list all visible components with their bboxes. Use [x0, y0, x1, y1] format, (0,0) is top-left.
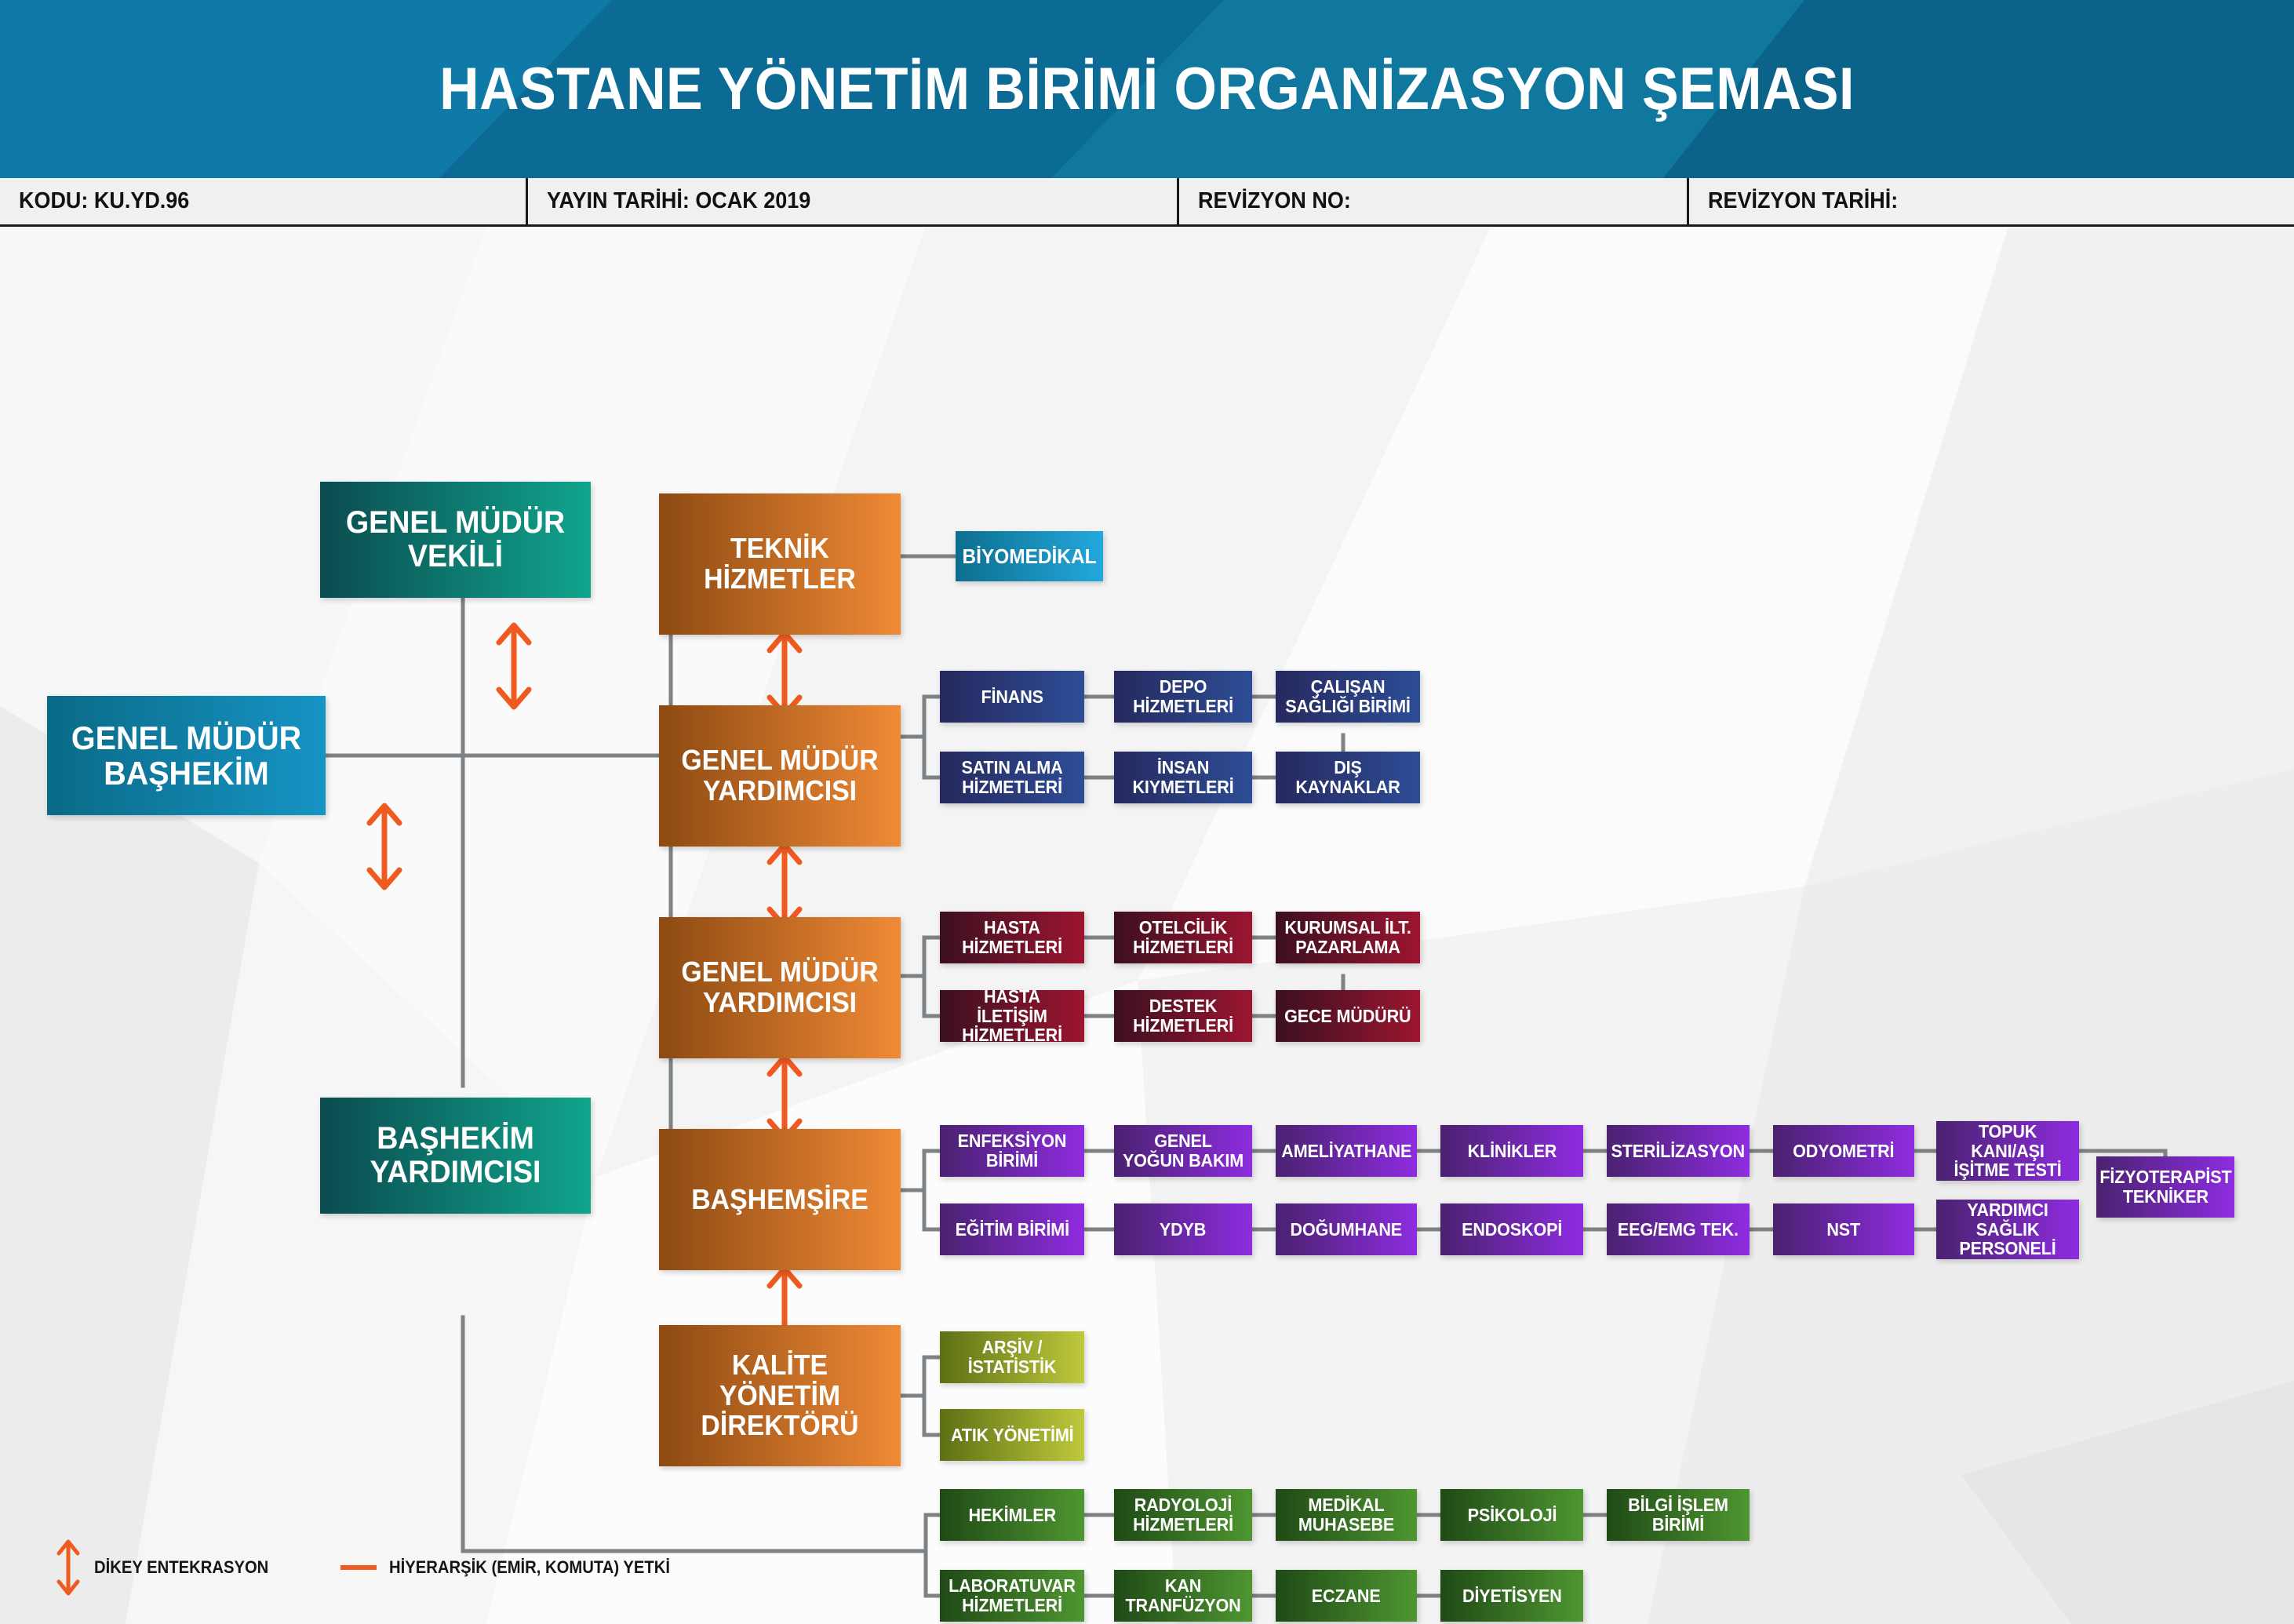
node-bashemsire[interactable]: BAŞHEMŞİRE: [659, 1129, 901, 1270]
node-teknik-hizmetler-label: TEKNİK HİZMETLER: [671, 533, 889, 595]
node-hasta-hizmetleri-label: HASTA HİZMETLERİ: [949, 918, 1076, 957]
node-insan-kiymetleri[interactable]: İNSAN KIYMETLERİ: [1114, 752, 1252, 803]
node-biyomedikal-label: BİYOMEDİKAL: [962, 545, 1096, 567]
node-klinikler-label: KLİNİKLER: [1467, 1142, 1557, 1161]
node-dogumhane-label: DOĞUMHANE: [1291, 1220, 1402, 1240]
node-genel-mudur-vekili-label: GENEL MÜDÜR VEKİLİ: [333, 506, 578, 573]
node-medikal-muhasebe-label: MEDİKAL MUHASEBE: [1284, 1495, 1408, 1535]
node-kan-transfuzyon[interactable]: KAN TRANFÜZYON: [1114, 1570, 1252, 1622]
org-chart-canvas: GENEL MÜDÜR BAŞHEKİM GENEL MÜDÜR VEKİLİ …: [0, 227, 2294, 1624]
node-nst-label: NST: [1827, 1220, 1861, 1240]
node-eeg-emg-tek-label: EEG/EMG TEK.: [1618, 1220, 1739, 1240]
node-bilgi-islem-birimi[interactable]: BİLGİ İŞLEM BİRİMİ: [1607, 1489, 1750, 1541]
node-satin-alma-hizmetleri[interactable]: SATIN ALMA HİZMETLERİ: [940, 752, 1084, 803]
node-gece-muduru[interactable]: GECE MÜDÜRÜ: [1276, 990, 1420, 1042]
node-calisan-sagligi-birimi-label: ÇALIŞAN SAĞLIĞI BİRİMİ: [1284, 677, 1411, 716]
node-hekimler-label: HEKİMLER: [968, 1506, 1055, 1525]
node-topuk-kani-asi-isitme-testi-label: TOPUK KANI/AŞI İŞİTME TESTİ: [1945, 1122, 2070, 1180]
node-enfeksiyon-birimi[interactable]: ENFEKSİYON BİRİMİ: [940, 1125, 1084, 1177]
node-dis-kaynaklar-label: DIŞ KAYNAKLAR: [1284, 758, 1411, 797]
node-genel-mudur-yardimcisi-2[interactable]: GENEL MÜDÜR YARDIMCISI: [659, 917, 901, 1058]
node-gece-muduru-label: GECE MÜDÜRÜ: [1284, 1007, 1411, 1026]
meta-yayin-tarihi-cell: YAYIN TARİHİ: OCAK 2019: [526, 178, 1177, 224]
node-ameliyathane[interactable]: AMELİYATHANE: [1276, 1125, 1417, 1177]
legend-item-vertical-integration: DİKEY ENTEKRASYON: [55, 1538, 284, 1597]
node-fizyoterapist-tekniker-label: FİZYOTERAPİST TEKNİKER: [2099, 1167, 2231, 1207]
node-kurumsal-ilt-pazarlama[interactable]: KURUMSAL İLT. PAZARLAMA: [1276, 912, 1420, 963]
meta-revizyon-no-cell: REVİZYON NO:: [1177, 178, 1687, 224]
meta-kodu-label: KODU: KU.YD.96: [19, 188, 189, 214]
node-kalite-yonetim-direktoru[interactable]: KALİTE YÖNETİM DİREKTÖRÜ: [659, 1325, 901, 1466]
node-destek-hizmetleri-label: DESTEK HİZMETLERİ: [1123, 996, 1243, 1036]
node-endoskopi-label: ENDOSKOPİ: [1462, 1220, 1562, 1240]
node-dogumhane[interactable]: DOĞUMHANE: [1276, 1203, 1417, 1255]
node-fizyoterapist-tekniker[interactable]: FİZYOTERAPİST TEKNİKER: [2096, 1156, 2234, 1218]
node-topuk-kani-asi-isitme-testi[interactable]: TOPUK KANI/AŞI İŞİTME TESTİ: [1936, 1121, 2079, 1181]
node-dis-kaynaklar[interactable]: DIŞ KAYNAKLAR: [1276, 752, 1420, 803]
node-nst[interactable]: NST: [1773, 1203, 1914, 1255]
node-ydyb-label: YDYB: [1160, 1220, 1206, 1240]
node-yardimci-saglik-personeli-label: YARDIMCI SAĞLIK PERSONELİ: [1945, 1200, 2070, 1258]
node-bashekim-yardimcisi[interactable]: BAŞHEKİM YARDIMCISI: [320, 1098, 591, 1214]
node-sterilizasyon-label: STERİLİZASYON: [1611, 1142, 1746, 1161]
node-hekimler[interactable]: HEKİMLER: [940, 1489, 1084, 1541]
meta-revizyon-tarihi-cell: REVİZYON TARİHİ:: [1687, 178, 2294, 224]
node-calisan-sagligi-birimi[interactable]: ÇALIŞAN SAĞLIĞI BİRİMİ: [1276, 671, 1420, 723]
node-genel-yogun-bakim-label: GENEL YOĞUN BAKIM: [1123, 1131, 1243, 1171]
node-arsiv-istatistik-label: ARŞİV / İSTATİSTİK: [949, 1338, 1076, 1377]
node-radyoloji-hizmetleri-label: RADYOLOJİ HİZMETLERİ: [1123, 1495, 1243, 1535]
meta-yayin-tarihi-label: YAYIN TARİHİ: OCAK 2019: [547, 188, 810, 214]
node-medikal-muhasebe[interactable]: MEDİKAL MUHASEBE: [1276, 1489, 1417, 1541]
meta-revizyon-tarihi-label: REVİZYON TARİHİ:: [1708, 188, 1898, 214]
node-laboratuvar-hizmetleri-label: LABORATUVAR HİZMETLERİ: [949, 1576, 1076, 1615]
node-ydyb[interactable]: YDYB: [1114, 1203, 1252, 1255]
vertical-double-arrow-icon: [55, 1538, 82, 1597]
node-otelcilik-hizmetleri-label: OTELCİLİK HİZMETLERİ: [1123, 918, 1243, 957]
horizontal-line-icon: [340, 1565, 377, 1570]
node-egitim-birimi-label: EĞİTİM BİRİMİ: [955, 1220, 1069, 1240]
node-insan-kiymetleri-label: İNSAN KIYMETLERİ: [1123, 758, 1243, 797]
legend-hierarchy-label: HİYERARŞİK (EMİR, KOMUTA) YETKİ: [389, 1557, 670, 1578]
node-genel-mudur-yardimcisi-1-label: GENEL MÜDÜR YARDIMCISI: [671, 745, 889, 807]
node-diyetisyen[interactable]: DİYETİSYEN: [1440, 1570, 1583, 1622]
node-laboratuvar-hizmetleri[interactable]: LABORATUVAR HİZMETLERİ: [940, 1570, 1084, 1622]
document-meta-bar: KODU: KU.YD.96 YAYIN TARİHİ: OCAK 2019 R…: [0, 178, 2294, 227]
node-destek-hizmetleri[interactable]: DESTEK HİZMETLERİ: [1114, 990, 1252, 1042]
node-genel-mudur-bashekim-label: GENEL MÜDÜR BAŞHEKİM: [60, 720, 312, 792]
organization-chart-page: HASTANE YÖNETİM BİRİMİ ORGANİZASYON ŞEMA…: [0, 0, 2294, 1624]
node-odyometri[interactable]: ODYOMETRİ: [1773, 1125, 1914, 1177]
node-kurumsal-ilt-pazarlama-label: KURUMSAL İLT. PAZARLAMA: [1284, 918, 1411, 957]
legend-vertical-integration-label: DİKEY ENTEKRASYON: [94, 1557, 268, 1578]
node-psikoloji-label: PSİKOLOJİ: [1467, 1506, 1557, 1525]
node-kan-transfuzyon-label: KAN TRANFÜZYON: [1123, 1576, 1243, 1615]
node-genel-mudur-vekili[interactable]: GENEL MÜDÜR VEKİLİ: [320, 482, 591, 598]
node-depo-hizmetleri-label: DEPO HİZMETLERİ: [1123, 677, 1243, 716]
node-ameliyathane-label: AMELİYATHANE: [1281, 1142, 1411, 1161]
node-teknik-hizmetler[interactable]: TEKNİK HİZMETLER: [659, 493, 901, 635]
node-bashekim-yardimcisi-label: BAŞHEKİM YARDIMCISI: [333, 1122, 578, 1189]
node-yardimci-saglik-personeli[interactable]: YARDIMCI SAĞLIK PERSONELİ: [1936, 1200, 2079, 1259]
node-radyoloji-hizmetleri[interactable]: RADYOLOJİ HİZMETLERİ: [1114, 1489, 1252, 1541]
node-atik-yonetimi[interactable]: ATIK YÖNETİMİ: [940, 1409, 1084, 1461]
node-sterilizasyon[interactable]: STERİLİZASYON: [1607, 1125, 1750, 1177]
node-psikoloji[interactable]: PSİKOLOJİ: [1440, 1489, 1583, 1541]
node-genel-mudur-yardimcisi-2-label: GENEL MÜDÜR YARDIMCISI: [671, 957, 889, 1018]
chart-legend: DİKEY ENTEKRASYON HİYERARŞİK (EMİR, KOMU…: [55, 1538, 694, 1597]
node-biyomedikal[interactable]: BİYOMEDİKAL: [956, 531, 1103, 581]
node-egitim-birimi[interactable]: EĞİTİM BİRİMİ: [940, 1203, 1084, 1255]
node-bashemsire-label: BAŞHEMŞİRE: [691, 1185, 868, 1215]
node-eczane[interactable]: ECZANE: [1276, 1570, 1417, 1622]
node-atik-yonetimi-label: ATIK YÖNETİMİ: [951, 1426, 1074, 1445]
node-odyometri-label: ODYOMETRİ: [1793, 1142, 1894, 1161]
meta-kodu-cell: KODU: KU.YD.96: [0, 178, 526, 224]
node-diyetisyen-label: DİYETİSYEN: [1462, 1586, 1562, 1606]
node-bilgi-islem-birimi-label: BİLGİ İŞLEM BİRİMİ: [1615, 1495, 1741, 1535]
node-satin-alma-hizmetleri-label: SATIN ALMA HİZMETLERİ: [949, 758, 1076, 797]
page-title: HASTANE YÖNETİM BİRİMİ ORGANİZASYON ŞEMA…: [92, 0, 2202, 178]
node-depo-hizmetleri[interactable]: DEPO HİZMETLERİ: [1114, 671, 1252, 723]
legend-item-hierarchy: HİYERARŞİK (EMİR, KOMUTA) YETKİ: [340, 1557, 694, 1578]
node-hasta-hizmetleri[interactable]: HASTA HİZMETLERİ: [940, 912, 1084, 963]
node-finans[interactable]: FİNANS: [940, 671, 1084, 723]
node-kalite-yonetim-direktoru-label: KALİTE YÖNETİM DİREKTÖRÜ: [671, 1350, 889, 1442]
node-genel-mudur-yardimcisi-1[interactable]: GENEL MÜDÜR YARDIMCISI: [659, 705, 901, 847]
node-otelcilik-hizmetleri[interactable]: OTELCİLİK HİZMETLERİ: [1114, 912, 1252, 963]
node-arsiv-istatistik[interactable]: ARŞİV / İSTATİSTİK: [940, 1331, 1084, 1383]
node-finans-label: FİNANS: [981, 687, 1043, 707]
node-genel-yogun-bakim[interactable]: GENEL YOĞUN BAKIM: [1114, 1125, 1252, 1177]
node-klinikler[interactable]: KLİNİKLER: [1440, 1125, 1583, 1177]
node-eeg-emg-tek[interactable]: EEG/EMG TEK.: [1607, 1203, 1750, 1255]
node-endoskopi[interactable]: ENDOSKOPİ: [1440, 1203, 1583, 1255]
meta-revizyon-no-label: REVİZYON NO:: [1198, 188, 1351, 214]
node-hasta-iletisim-hizmetleri-label: HASTA İLETİŞİM HİZMETLERİ: [949, 987, 1076, 1045]
node-enfeksiyon-birimi-label: ENFEKSİYON BİRİMİ: [949, 1131, 1076, 1171]
node-eczane-label: ECZANE: [1312, 1586, 1381, 1606]
node-hasta-iletisim-hizmetleri[interactable]: HASTA İLETİŞİM HİZMETLERİ: [940, 990, 1084, 1042]
node-genel-mudur-bashekim[interactable]: GENEL MÜDÜR BAŞHEKİM: [47, 696, 326, 815]
